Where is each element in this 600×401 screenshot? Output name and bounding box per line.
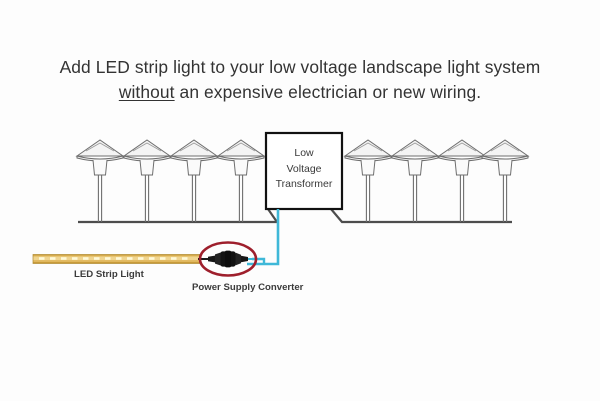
landscape-lighting-diagram bbox=[0, 0, 600, 401]
diagram-canvas: Add LED strip light to your low voltage … bbox=[0, 0, 600, 401]
path-light-1 bbox=[77, 140, 123, 222]
led-strip-light bbox=[33, 255, 200, 264]
led-strip-caption: LED Strip Light bbox=[74, 269, 144, 280]
path-light-7 bbox=[439, 140, 485, 222]
transformer-label-line-1: Low bbox=[266, 146, 342, 162]
path-light-5 bbox=[345, 140, 391, 222]
ground-cable bbox=[78, 209, 512, 222]
path-light-8 bbox=[482, 140, 528, 222]
power-supply-converter-caption: Power Supply Converter bbox=[192, 282, 303, 293]
path-light-4 bbox=[218, 140, 264, 222]
path-light-6 bbox=[392, 140, 438, 222]
transformer-label: Low Voltage Transformer bbox=[266, 146, 342, 193]
transformer-label-line-3: Transformer bbox=[266, 177, 342, 193]
transformer-label-line-2: Voltage bbox=[266, 162, 342, 178]
path-light-2 bbox=[124, 140, 170, 222]
path-light-3 bbox=[171, 140, 217, 222]
power-supply-converter bbox=[200, 243, 256, 276]
